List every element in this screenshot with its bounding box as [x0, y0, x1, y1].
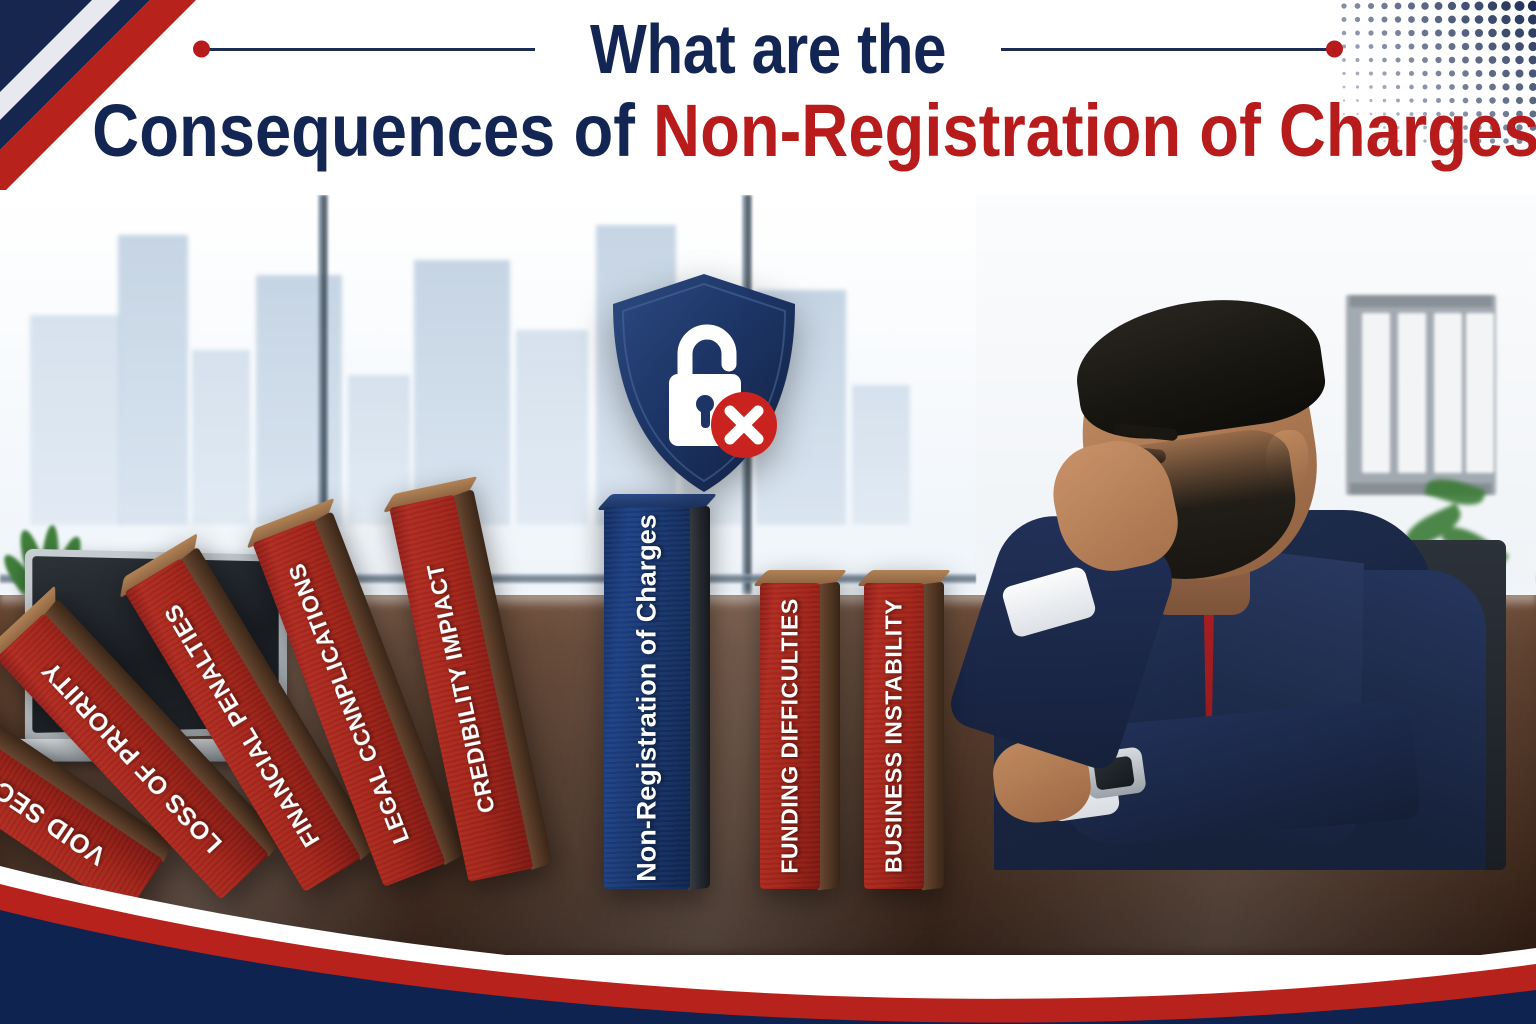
security-shield-icon	[607, 270, 802, 500]
title-rule-right	[1001, 48, 1331, 51]
domino-label: Non-Registration of Charges	[632, 514, 663, 882]
domino-label: FUNDING DIFFICULTIES	[777, 598, 804, 873]
rule-dot-right	[1326, 41, 1343, 58]
error-x-badge	[711, 392, 777, 458]
title-block: What are the Consequences of Non-Registr…	[0, 14, 1536, 170]
bottom-curved-band	[0, 844, 1536, 1024]
domino-label: BUSINESS INSTABILITY	[881, 599, 908, 873]
title-rule-left	[205, 48, 535, 51]
infographic-canvas: VOID SECURITY LOSS OF PRIORIITY FINANCIA…	[0, 0, 1536, 1024]
page-title-line2: Consequences of Non-Registration of Char…	[92, 92, 1444, 170]
page-title-line2-red: Non-Registration of Charges?	[653, 89, 1536, 172]
office-scene-photo: VOID SECURITY LOSS OF PRIORIITY FINANCIA…	[0, 195, 1536, 955]
domino-non-registration-of-charges: Non-Registration of Charges	[604, 507, 690, 889]
worried-businessman	[936, 270, 1496, 870]
page-title-line2-navy: Consequences of	[92, 89, 653, 172]
rule-dot-left	[193, 41, 210, 58]
page-title-line1: What are the	[590, 14, 946, 84]
